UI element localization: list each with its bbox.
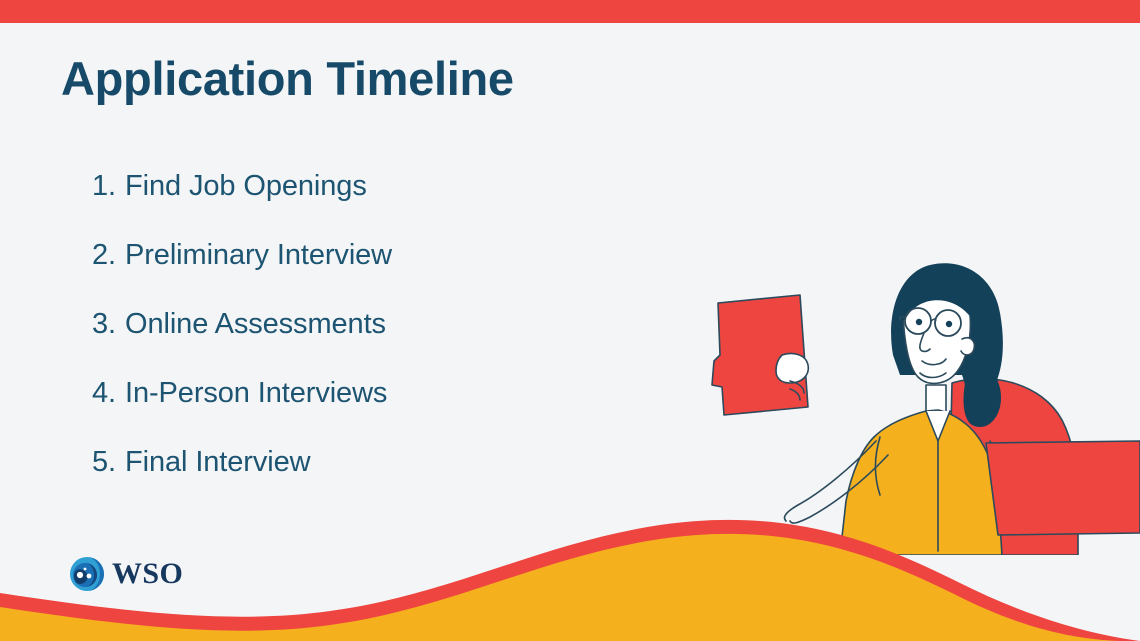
list-item: 4.In-Person Interviews <box>92 379 652 408</box>
list-item: 5.Final Interview <box>92 448 652 477</box>
page-title: Application Timeline <box>61 52 514 106</box>
illustration-woman-holding-document <box>690 255 1140 555</box>
wso-wordmark: WSO <box>112 559 183 589</box>
list-item-label: Find Job Openings <box>125 170 367 202</box>
eye-left <box>916 319 922 325</box>
list-item: 3.Online Assessments <box>92 310 652 339</box>
laptop-screen <box>986 441 1140 535</box>
slide-canvas: Application Timeline 1.Find Job Openings… <box>0 0 1140 641</box>
list-item-number: 3. <box>92 308 116 340</box>
list-item-label: Online Assessments <box>125 308 386 340</box>
globe-icon <box>69 556 105 592</box>
hand <box>776 353 808 383</box>
eye-right <box>946 321 952 327</box>
list-item-label: In-Person Interviews <box>125 377 387 409</box>
top-accent-bar <box>0 0 1140 23</box>
list-item-number: 4. <box>92 377 116 409</box>
list-item-label: Final Interview <box>125 446 310 478</box>
timeline-list: 1.Find Job Openings 2.Preliminary Interv… <box>92 172 652 517</box>
list-item-label: Preliminary Interview <box>125 239 392 271</box>
list-item-number: 1. <box>92 170 116 202</box>
list-item: 2.Preliminary Interview <box>92 241 652 270</box>
wso-logo[interactable]: WSO <box>69 556 183 592</box>
list-item-number: 2. <box>92 239 116 271</box>
ear <box>961 338 974 355</box>
list-item-number: 5. <box>92 446 116 478</box>
list-item: 1.Find Job Openings <box>92 172 652 201</box>
